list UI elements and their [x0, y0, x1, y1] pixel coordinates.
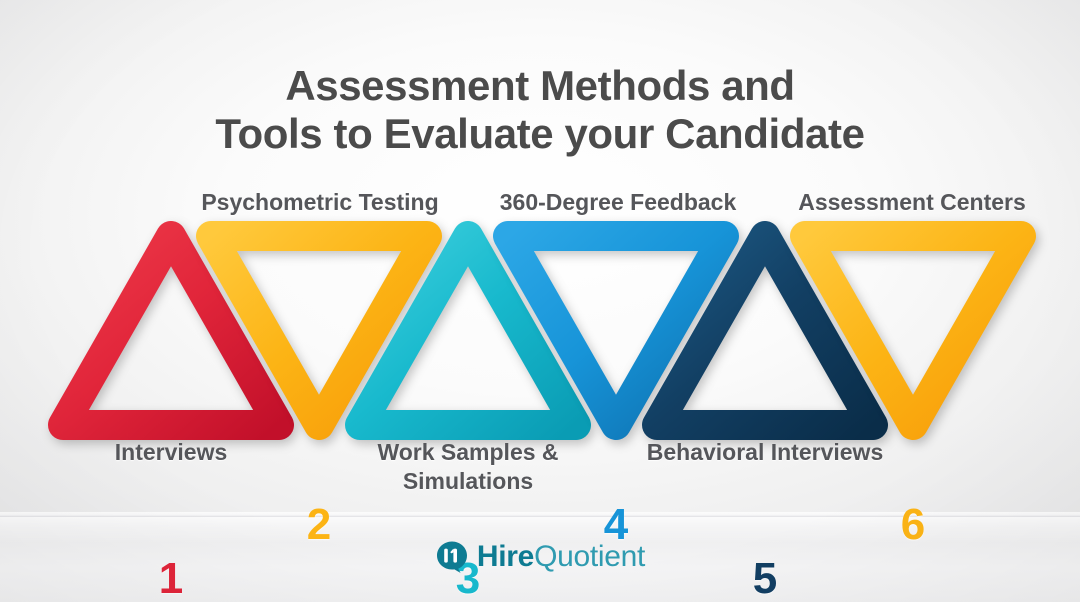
- step-6[interactable]: 6: [797, 228, 1029, 433]
- brand-name-bold: Hire: [477, 540, 534, 573]
- step-1-label: Interviews: [50, 438, 292, 467]
- steps-row: 1 Interviews 2 Psychometric Testing: [0, 0, 1080, 602]
- hirequotient-logo-icon: [435, 540, 469, 574]
- step-3-label: Work Samples & Simulations: [337, 438, 599, 496]
- brand-name: HireQuotient: [477, 540, 645, 574]
- step-5-label: Behavioral Interviews: [644, 438, 886, 467]
- brand-logo: HireQuotient: [0, 540, 1080, 574]
- triangle-down-icon: [797, 228, 1029, 433]
- step-6-label: Assessment Centers: [772, 188, 1052, 217]
- step-2-label: Psychometric Testing: [180, 188, 460, 217]
- brand-name-regular: Quotient: [534, 540, 645, 573]
- step-4-label: 360-Degree Feedback: [478, 188, 758, 217]
- infographic-canvas: Assessment Methods and Tools to Evaluate…: [0, 0, 1080, 602]
